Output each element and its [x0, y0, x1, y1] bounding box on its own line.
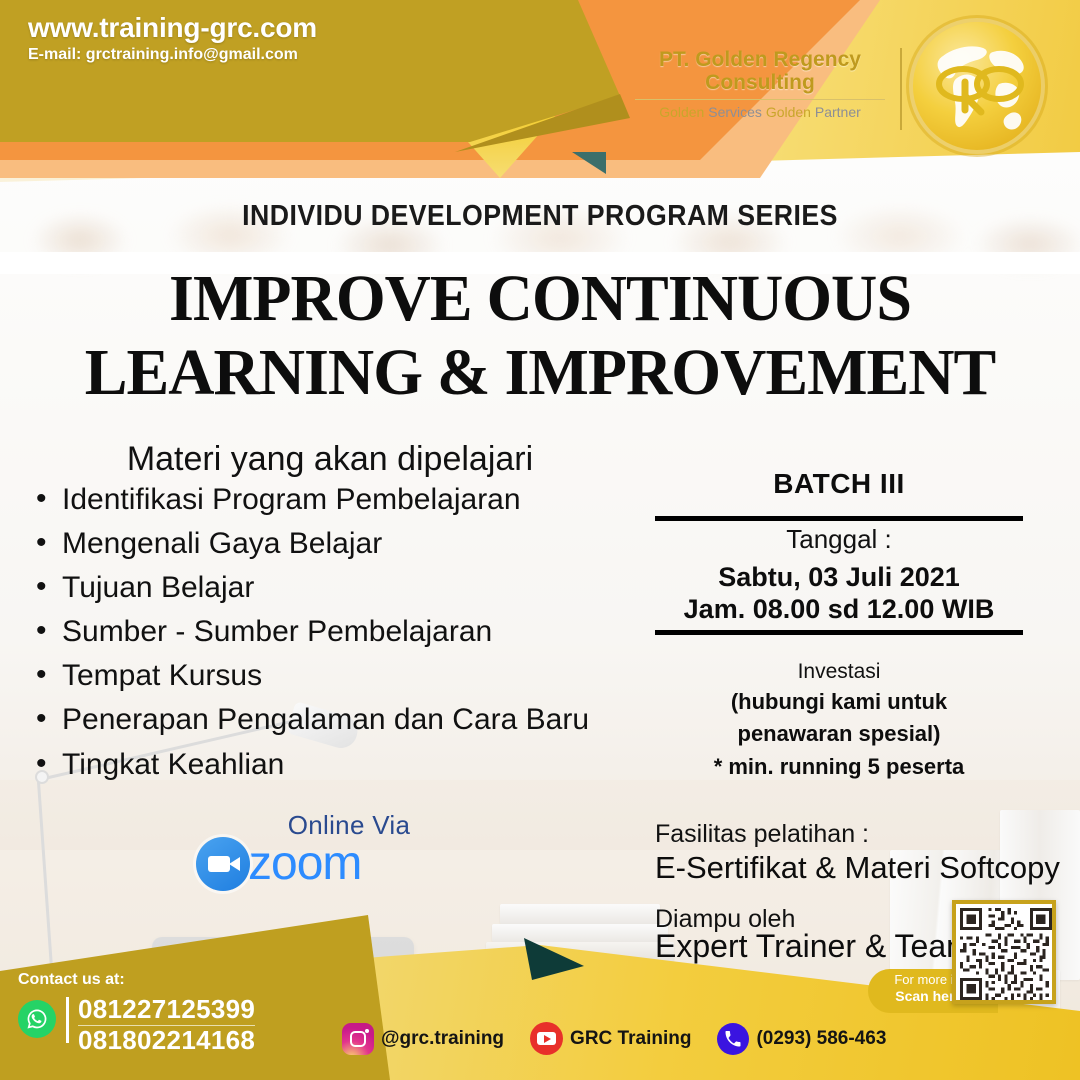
- zoom-logo: zoom: [196, 837, 456, 891]
- title-line-1: IMPROVE CONTINUOUS: [16, 262, 1064, 336]
- contact-us-label: Contact us at:: [18, 971, 125, 989]
- page-title: IMPROVE CONTINUOUS LEARNING & IMPROVEMEN…: [0, 262, 1080, 410]
- list-item: Mengenali Gaya Belajar: [30, 522, 670, 566]
- brand-vertical-divider: [900, 48, 902, 130]
- investment-note: * min. running 5 peserta: [655, 754, 1023, 780]
- phone-icon: [717, 1023, 749, 1055]
- photo-book-stack: [500, 904, 660, 924]
- contact-divider-bar: [66, 997, 69, 1043]
- whatsapp-number-1[interactable]: 081227125399: [78, 996, 255, 1024]
- investment-line-1: (hubungi kami untuk: [655, 689, 1023, 715]
- company-tagline: Golden Services Golden Partner: [625, 104, 895, 120]
- instagram-icon: [342, 1023, 374, 1055]
- tagline-services: Services: [708, 104, 766, 120]
- schedule-rule-bottom: [655, 630, 1023, 635]
- social-phone[interactable]: (0293) 586-463: [717, 1023, 886, 1055]
- list-item: Tujuan Belajar: [30, 566, 670, 610]
- whatsapp-icon[interactable]: [18, 1000, 56, 1038]
- event-date: Sabtu, 03 Juli 2021: [655, 562, 1023, 593]
- youtube-icon: [530, 1022, 563, 1055]
- header-contact-block: www.training-grc.com E-mail: grctraining…: [28, 12, 317, 64]
- whatsapp-number-2[interactable]: 081802214168: [78, 1027, 255, 1055]
- tagline-golden-2: Golden: [766, 104, 815, 120]
- list-item: Sumber - Sumber Pembelajaran: [30, 610, 670, 654]
- company-brand-block: PT. Golden Regency Consulting Golden Ser…: [625, 48, 895, 120]
- zoom-wordmark: zoom: [248, 840, 361, 888]
- grc-globe-logo-icon: [913, 22, 1041, 150]
- zoom-camera-icon: [196, 837, 250, 891]
- event-time: Jam. 08.00 sd 12.00 WIB: [655, 594, 1023, 625]
- youtube-channel: GRC Training: [570, 1028, 691, 1050]
- whatsapp-numbers: 081227125399 081802214168: [78, 996, 255, 1054]
- batch-label: BATCH III: [655, 468, 1023, 500]
- website-url[interactable]: www.training-grc.com: [28, 12, 317, 44]
- tagline-partner: Partner: [815, 104, 861, 120]
- facilities-value: E-Sertifikat & Materi Softcopy: [655, 850, 1060, 886]
- program-series-subtitle: INDIVIDU DEVELOPMENT PROGRAM SERIES: [43, 200, 1037, 233]
- instagram-handle: @grc.training: [381, 1028, 504, 1050]
- company-name-line2: Consulting: [625, 71, 895, 94]
- brand-divider-rule: [635, 99, 885, 100]
- social-youtube[interactable]: GRC Training: [530, 1022, 691, 1055]
- flyer-poster: www.training-grc.com E-mail: grctraining…: [0, 0, 1080, 1080]
- schedule-rule-top: [655, 516, 1023, 521]
- tagline-golden-1: Golden: [659, 104, 708, 120]
- date-label: Tanggal :: [655, 524, 1023, 555]
- social-links: @grc.training GRC Training (0293) 586-46…: [342, 1022, 886, 1055]
- phone-number: (0293) 586-463: [756, 1028, 886, 1050]
- list-item: Tempat Kursus: [30, 654, 670, 698]
- facilities-label: Fasilitas pelatihan :: [655, 820, 869, 849]
- email-address[interactable]: E-mail: grctraining.info@gmail.com: [28, 46, 317, 64]
- photo-book-stack: [492, 924, 668, 942]
- materials-list: Identifikasi Program Pembelajaran Mengen…: [30, 478, 670, 787]
- materials-heading: Materi yang akan dipelajari: [50, 440, 610, 479]
- investment-line-2: penawaran spesial): [655, 721, 1023, 747]
- list-item: Penerapan Pengalaman dan Cara Baru: [30, 698, 670, 742]
- trainer-value: Expert Trainer & Team: [655, 928, 973, 965]
- company-name-line1: PT. Golden Regency: [625, 48, 895, 71]
- qr-code-icon[interactable]: [952, 900, 1056, 1004]
- online-platform-block: Online Via zoom: [196, 810, 456, 891]
- investment-label: Investasi: [655, 660, 1023, 684]
- list-item: Tingkat Keahlian: [30, 743, 670, 787]
- title-line-2: LEARNING & IMPROVEMENT: [16, 336, 1064, 410]
- list-item: Identifikasi Program Pembelajaran: [30, 478, 670, 522]
- social-instagram[interactable]: @grc.training: [342, 1023, 504, 1055]
